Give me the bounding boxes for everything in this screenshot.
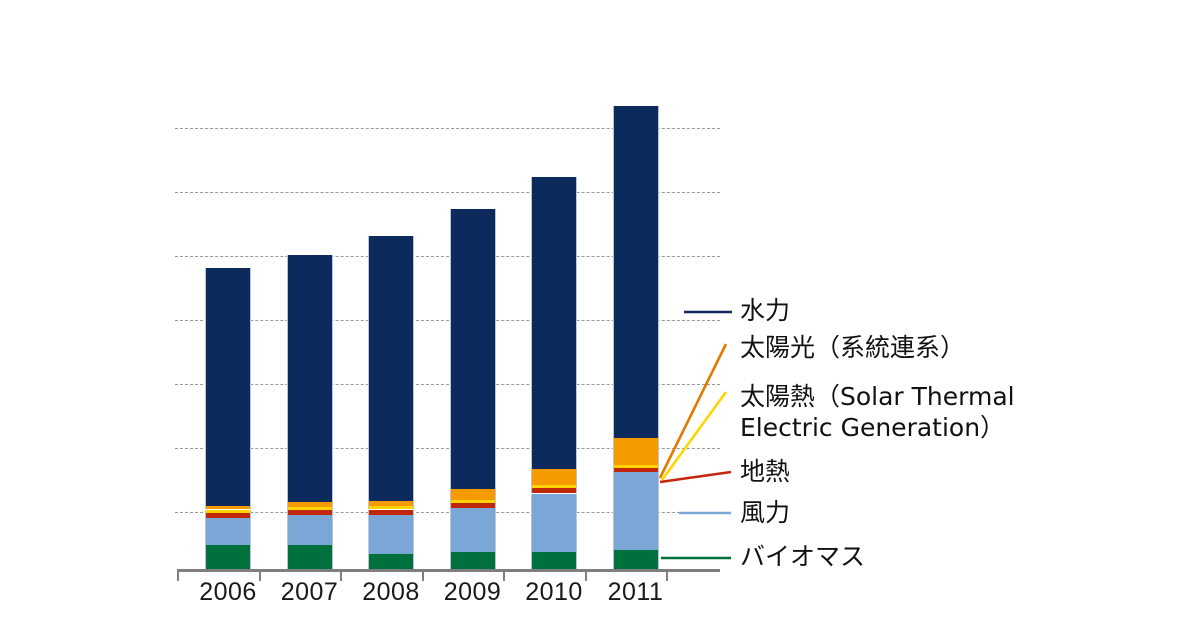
- bar-segment[interactable]: [205, 513, 251, 518]
- bar-segment[interactable]: [368, 236, 414, 500]
- bar-2007[interactable]: [287, 255, 333, 569]
- bar-segment[interactable]: [613, 438, 659, 465]
- x-axis-label-2008: 2008: [346, 578, 436, 607]
- bar-segment[interactable]: [450, 489, 496, 500]
- bar-segment[interactable]: [450, 503, 496, 508]
- bar-segment[interactable]: [531, 488, 577, 493]
- bar-segment[interactable]: [450, 209, 496, 489]
- bar-segment[interactable]: [613, 465, 659, 468]
- bar-segment[interactable]: [287, 515, 333, 544]
- bar-segment[interactable]: [368, 501, 414, 507]
- bar-segment[interactable]: [613, 472, 659, 550]
- bar-segment[interactable]: [205, 518, 251, 545]
- bar-segment[interactable]: [205, 510, 251, 513]
- x-axis-label-2011: 2011: [591, 578, 681, 607]
- bar-segment[interactable]: [450, 552, 496, 569]
- bar-segment[interactable]: [613, 106, 659, 438]
- bar-2008[interactable]: [368, 236, 414, 569]
- chart-canvas: 200620072008200920102011 水力 太陽光（系統連系） 太陽…: [0, 0, 1200, 630]
- bar-segment[interactable]: [613, 550, 659, 569]
- x-axis-label-2010: 2010: [509, 578, 599, 607]
- x-axis-label-2007: 2007: [265, 578, 355, 607]
- bar-segment[interactable]: [531, 494, 577, 553]
- bar-segment[interactable]: [531, 485, 577, 488]
- bar-segment[interactable]: [287, 510, 333, 515]
- x-axis-label-2006: 2006: [183, 578, 273, 607]
- legend-label-solar-pv[interactable]: 太陽光（系統連系）: [740, 333, 965, 364]
- bar-segment[interactable]: [287, 502, 333, 507]
- bar-segment[interactable]: [450, 508, 496, 552]
- x-axis-label-2009: 2009: [428, 578, 518, 607]
- legend-label-solar-thermal[interactable]: 太陽熱（Solar Thermal Electric Generation）: [740, 382, 1015, 443]
- bar-segment[interactable]: [450, 500, 496, 503]
- bar-segment[interactable]: [368, 515, 414, 555]
- bar-segment[interactable]: [287, 255, 333, 502]
- legend-label-hydro[interactable]: 水力: [740, 296, 790, 327]
- bar-segment[interactable]: [205, 506, 251, 510]
- legend-label-wind[interactable]: 風力: [740, 498, 790, 529]
- bar-segment[interactable]: [531, 469, 577, 485]
- bar-segment[interactable]: [368, 506, 414, 509]
- bar-segment[interactable]: [613, 468, 659, 472]
- bar-segment[interactable]: [205, 268, 251, 505]
- legend-label-biomass[interactable]: バイオマス: [740, 542, 865, 573]
- bar-segment[interactable]: [368, 510, 414, 515]
- bar-2009[interactable]: [450, 209, 496, 569]
- bar-2010[interactable]: [531, 177, 577, 569]
- plot-area: 200620072008200920102011: [0, 0, 1200, 630]
- bar-segment[interactable]: [531, 552, 577, 569]
- bar-2011[interactable]: [613, 106, 659, 569]
- bar-segment[interactable]: [205, 545, 251, 569]
- bar-segment[interactable]: [368, 554, 414, 569]
- x-tick-2006: [177, 569, 179, 581]
- legend-label-geothermal[interactable]: 地熱: [740, 457, 790, 488]
- bar-segment[interactable]: [531, 177, 577, 469]
- bar-2006[interactable]: [205, 268, 251, 569]
- bar-segment[interactable]: [287, 545, 333, 569]
- bar-segment[interactable]: [287, 507, 333, 510]
